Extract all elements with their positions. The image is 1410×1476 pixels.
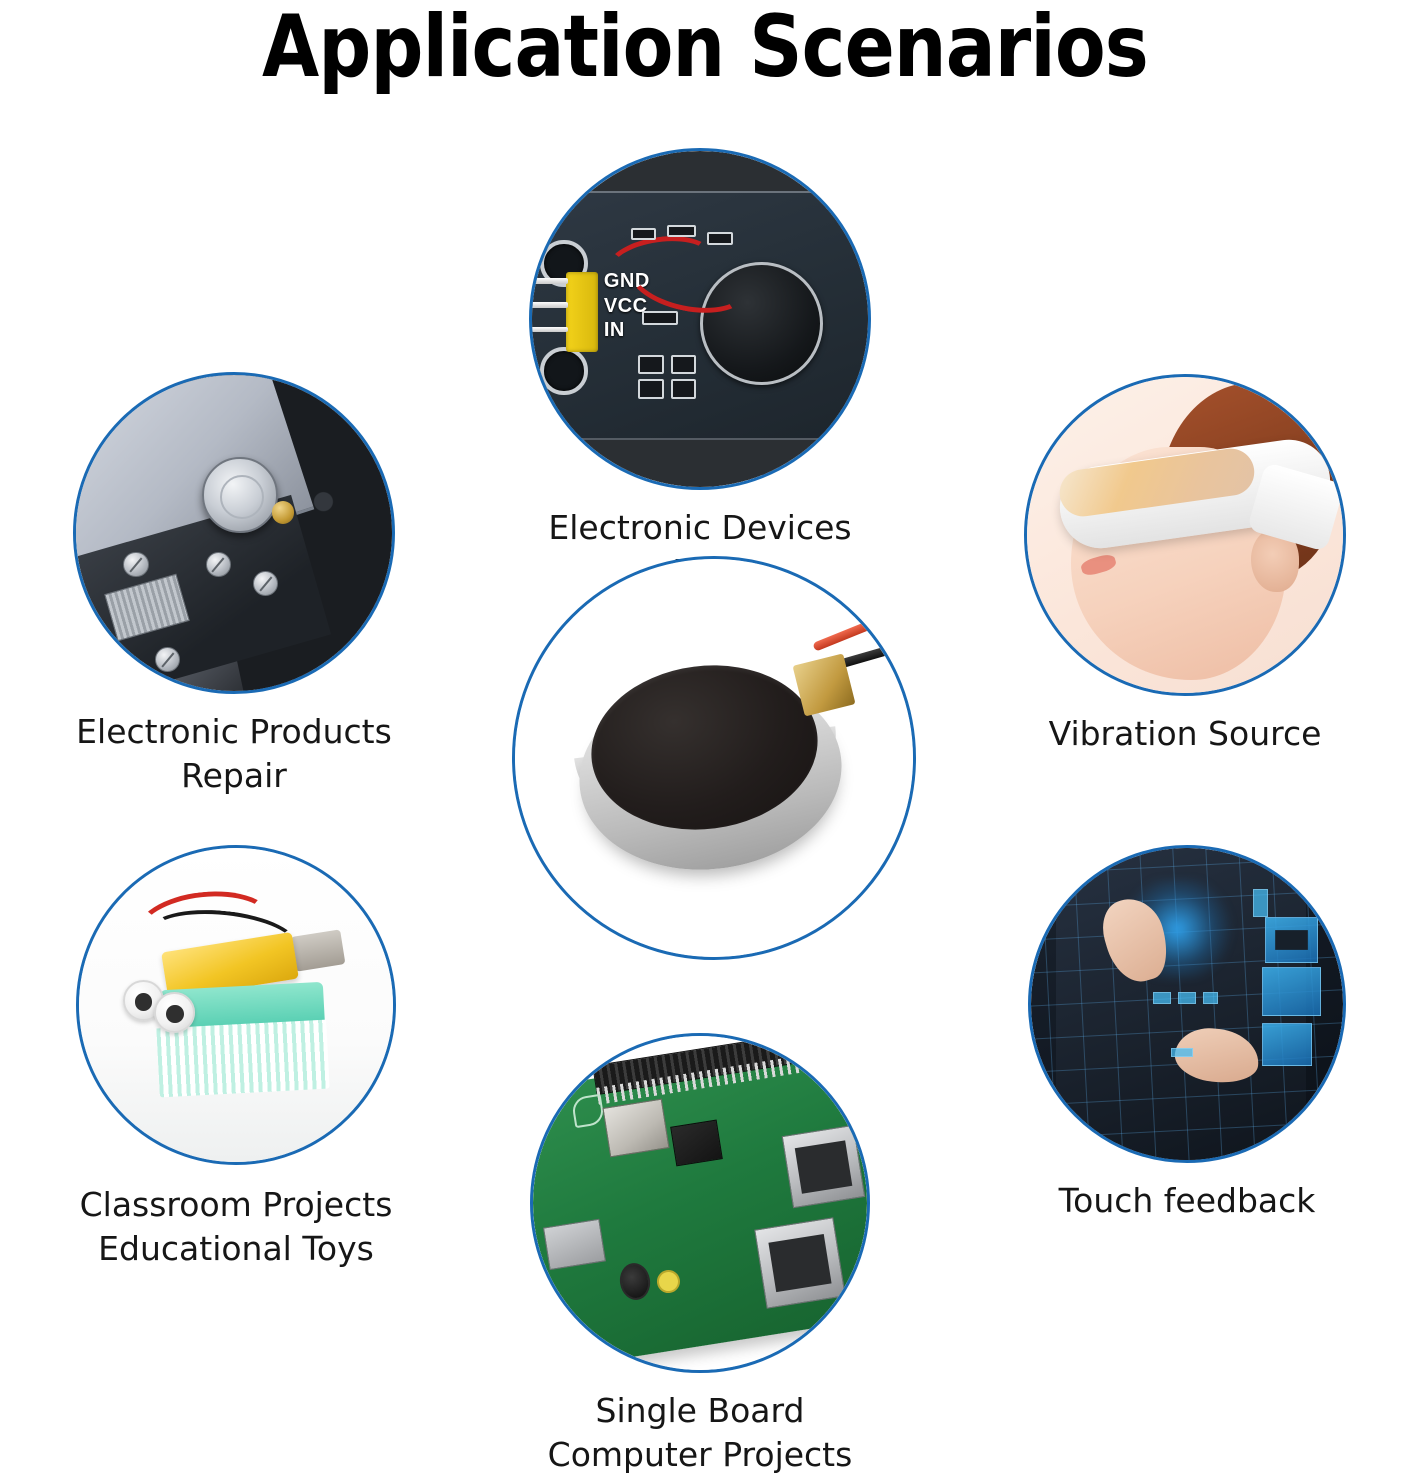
smd-component [638, 355, 663, 375]
scenario-vibration-source: Vibration Source [1024, 374, 1346, 756]
red-lead-wire [812, 610, 897, 651]
scenario-electronic-devices-diy: GND VCC IN Electronic Devices DIY [529, 148, 871, 593]
soc-chip [603, 1098, 670, 1157]
envelope-glyph: ✉ [1281, 927, 1303, 953]
circle-frame-classroom-projects [76, 845, 396, 1165]
screw [206, 552, 231, 577]
circle-frame-electronic-devices-diy: GND VCC IN [529, 148, 871, 490]
product-background [515, 559, 913, 957]
vibration-motor-installed [202, 457, 278, 533]
panel-icon [1262, 1023, 1312, 1067]
caption-electronic-products-repair: Electronic Products Repair [73, 710, 395, 797]
gold-standoff [272, 501, 294, 523]
ram-chip [670, 1119, 722, 1166]
circle-frame-vibration-source [1024, 374, 1346, 696]
port-opening [768, 1234, 831, 1292]
screw [123, 552, 148, 577]
hud-bar [1253, 889, 1269, 917]
smd-component [642, 311, 678, 326]
header-pin [532, 327, 568, 333]
photo-holographic-touchscreen: ✉ [1031, 848, 1343, 1160]
circle-frame-electronic-products-repair [73, 372, 395, 694]
photo-bristlebot-toy [79, 848, 393, 1162]
scenario-touch-feedback: ✉ Touch feedback [1028, 845, 1346, 1223]
scenario-electronic-products-repair: Electronic Products Repair [73, 372, 395, 797]
photo-vibration-motor-module: GND VCC IN [532, 151, 868, 487]
circle-frame-single-board-computer [530, 1033, 870, 1373]
window-icon [1262, 967, 1321, 1017]
hdmi-port [543, 1219, 606, 1271]
circle-frame-product [512, 556, 916, 960]
photo-device-internals [76, 375, 392, 691]
header-pin [532, 302, 568, 308]
mail-icon: ✉ [1265, 917, 1318, 964]
photo-eye-massager [1027, 377, 1343, 693]
yellow-pin-header [566, 272, 599, 353]
hud-chip [1203, 992, 1219, 1004]
shield-can [104, 573, 191, 641]
hud-chip [1171, 1048, 1193, 1057]
pcb-mounting-hole [540, 347, 587, 394]
smd-component [638, 379, 663, 399]
pin-label-in: IN [604, 319, 625, 342]
page-title: Application Scenarios [99, 2, 1312, 92]
smd-component [667, 225, 696, 237]
smd-component [671, 355, 696, 375]
caption-single-board-computer-projects: Single Board Computer Projects [530, 1389, 870, 1476]
scenario-classroom-projects: Classroom Projects Educational Toys [76, 845, 396, 1270]
usb-port [754, 1217, 846, 1309]
hud-chip [1178, 992, 1197, 1004]
smd-component [707, 232, 732, 244]
photo-raspberry-pi-board [533, 1036, 867, 1370]
caption-classroom-projects: Classroom Projects Educational Toys [76, 1183, 396, 1270]
caption-touch-feedback: Touch feedback [1028, 1179, 1346, 1223]
ethernet-port [782, 1124, 866, 1208]
port-opening [795, 1140, 853, 1193]
hud-chip [1153, 992, 1172, 1004]
smd-component [671, 379, 696, 399]
smd-component [631, 228, 656, 240]
scenario-product-coin-motor [512, 556, 916, 976]
circle-frame-touch-feedback: ✉ [1028, 845, 1346, 1163]
caption-vibration-source: Vibration Source [1024, 712, 1346, 756]
photo-coin-vibration-motor [515, 559, 913, 957]
pcb-board: GND VCC IN [532, 191, 868, 440]
vibration-motor-on-toy [290, 929, 345, 971]
header-pin [532, 278, 568, 284]
